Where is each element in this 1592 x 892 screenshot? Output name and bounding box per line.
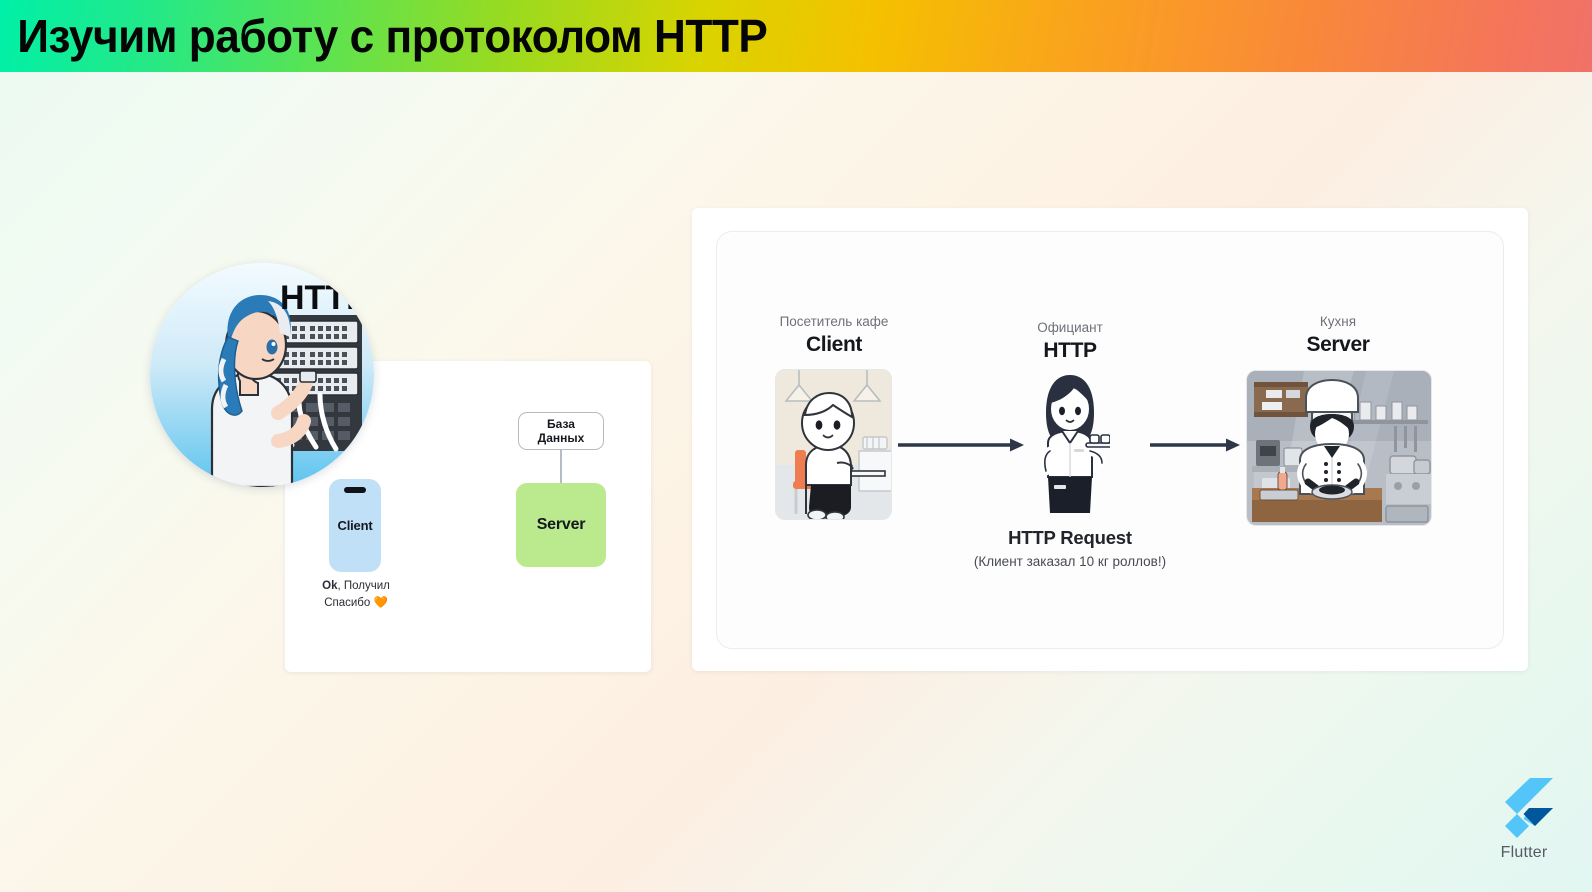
column-title-http: HTTP xyxy=(960,337,1180,364)
flutter-brand: Flutter xyxy=(1476,778,1572,874)
waitress-illustration-icon xyxy=(1030,367,1110,519)
kitchen-chef-illustration-icon xyxy=(1244,368,1434,528)
page-title: Изучим работу с протоколом HTTP xyxy=(0,9,767,63)
server-box: Server xyxy=(516,483,606,567)
slide-root: Изучим работу с протоколом HTTP xyxy=(0,0,1592,892)
client-phone-label: Client xyxy=(338,518,373,533)
database-label-line2: Данных xyxy=(538,431,585,445)
client-note-rest: , Получил xyxy=(337,580,389,592)
http-request-title: HTTP Request xyxy=(960,527,1180,549)
column-head-client: Посетитель кафе Client xyxy=(724,313,944,359)
column-subtitle-http: Официант xyxy=(960,319,1180,337)
http-server-girl-avatar-icon: HTTP xyxy=(150,263,374,487)
title-banner: Изучим работу с протоколом HTTP xyxy=(0,0,1592,72)
column-subtitle-client: Посетитель кафе xyxy=(724,313,944,331)
client-note-ok: Ok xyxy=(322,580,337,592)
column-title-server: Server xyxy=(1228,331,1448,358)
client-note-line2: Спасибо xyxy=(324,597,370,609)
phone-notch-icon xyxy=(344,487,366,493)
arrow-right-icon-client-to-http xyxy=(898,437,1026,455)
svg-text:HTTP: HTTP xyxy=(280,279,369,317)
database-label-line1: База xyxy=(547,417,575,431)
column-head-http: Официант HTTP xyxy=(960,319,1180,365)
client-response-note: Ok, Получил Спасибо 🧡 xyxy=(300,578,412,611)
column-subtitle-server: Кухня xyxy=(1228,313,1448,331)
cafe-visitor-illustration-icon xyxy=(773,367,894,522)
arrow-right-icon-http-to-server xyxy=(1150,437,1242,455)
flutter-brand-label: Flutter xyxy=(1476,844,1572,862)
column-head-server: Кухня Server xyxy=(1228,313,1448,359)
client-phone: Client xyxy=(329,479,381,572)
database-box: База Данных xyxy=(518,412,604,450)
column-title-client: Client xyxy=(724,331,944,358)
flutter-logo-icon xyxy=(1495,778,1553,842)
http-request-subtitle: (Клиент заказал 10 кг роллов!) xyxy=(940,554,1200,569)
orange-heart-icon: 🧡 xyxy=(373,597,387,609)
database-server-connector xyxy=(560,450,562,483)
